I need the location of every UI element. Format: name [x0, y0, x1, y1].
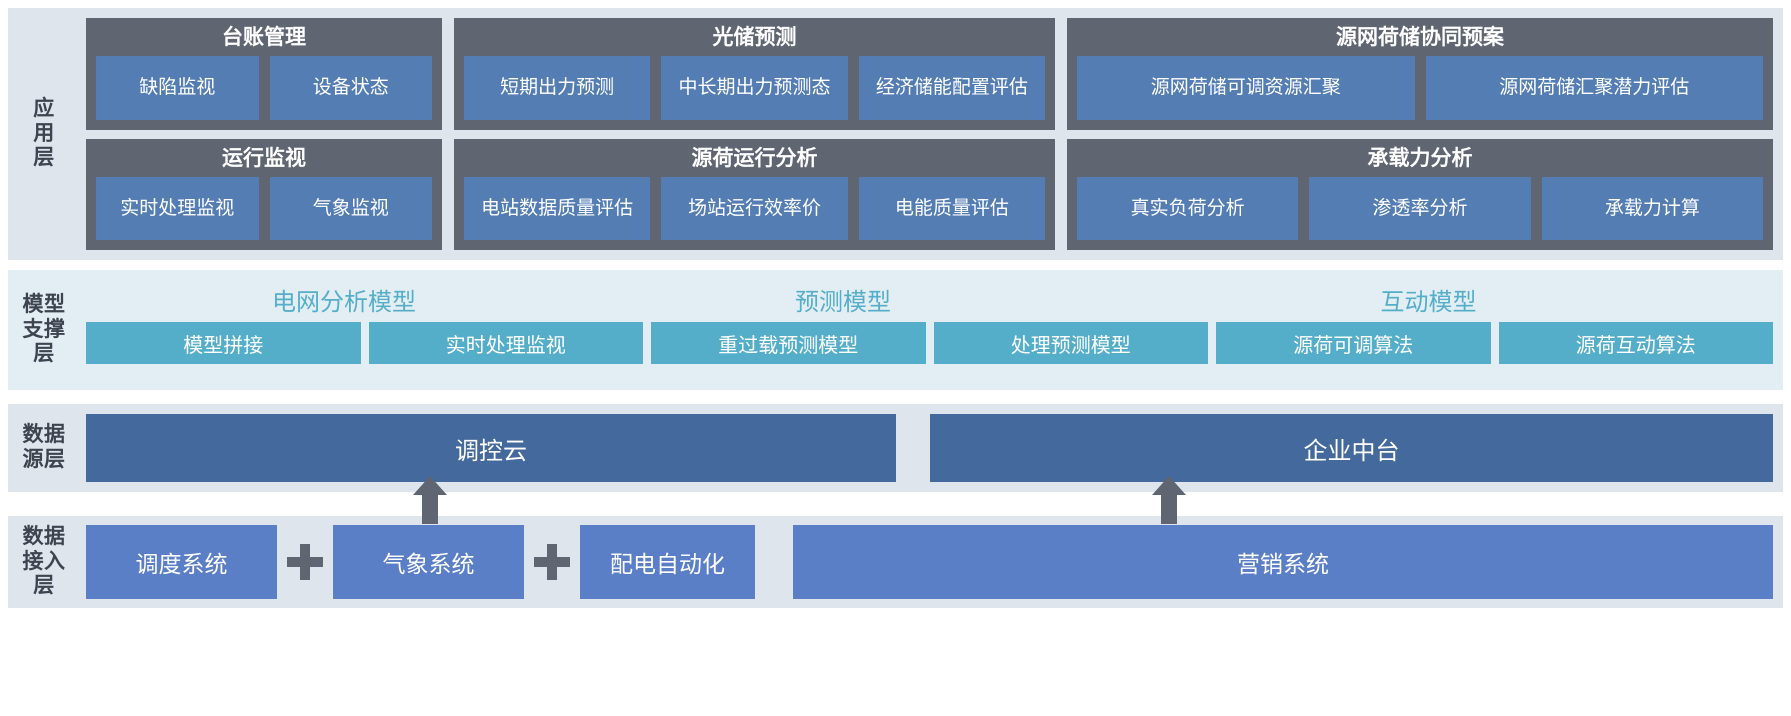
data-access-body: 调度系统 气象系统 配电自动化 营销系统 — [80, 516, 1783, 608]
group-items: 源网荷储可调资源汇聚 源网荷储汇聚潜力评估 — [1077, 56, 1763, 119]
group-items: 真实负荷分析 渗透率分析 承载力计算 — [1077, 177, 1763, 240]
app-item-zhenshi-fuhe-fenxi[interactable]: 真实负荷分析 — [1077, 177, 1298, 240]
layer-data-access: 数据 接入 层 调度系统 气象系统 配电自动化 营销系统 — [8, 516, 1783, 608]
layer-label-data-access-line1: 数据 — [23, 525, 66, 550]
layer-label-data-access: 数据 接入 层 — [8, 516, 80, 608]
group-title: 台账管理 — [222, 24, 306, 52]
layer-data-source: 数据 源层 调控云 企业中台 — [8, 404, 1783, 492]
access-item-yingxiao-xitong[interactable]: 营销系统 — [793, 525, 1773, 599]
group-title: 源网荷储协同预案 — [1336, 24, 1504, 52]
layer-label-data-source-line2: 源层 — [23, 448, 66, 473]
model-item-yuanhe-hudong-suanfa[interactable]: 源荷互动算法 — [1499, 322, 1774, 364]
app-item-duanqi-chuli-yuce[interactable]: 短期出力预测 — [464, 56, 650, 119]
layer-label-model-support-line2: 支撑 — [23, 318, 66, 343]
layer-label-data-source-line1: 数据 — [23, 423, 66, 448]
model-support-body: 电网分析模型 预测模型 互动模型 模型拼接 实时处理监视 重过载预测模型 处理预… — [80, 270, 1783, 390]
group-chengzaili-fenxi[interactable]: 承载力分析 真实负荷分析 渗透率分析 承载力计算 — [1067, 139, 1773, 251]
app-item-shishi-chuli-jianshi[interactable]: 实时处理监视 — [96, 177, 259, 240]
app-item-dianzhan-shuju-zhiliang-pinggu[interactable]: 电站数据质量评估 — [464, 177, 650, 240]
layer-label-model-support-line1: 模型 — [23, 293, 66, 318]
group-yuanwanghechu-xietong-yuan[interactable]: 源网荷储协同预案 源网荷储可调资源汇聚 源网荷储汇聚潜力评估 — [1067, 18, 1773, 130]
group-items: 电站数据质量评估 场站运行效率价 电能质量评估 — [464, 177, 1045, 240]
arrow-up-icon — [413, 476, 447, 524]
app-item-chengzaili-jisuan[interactable]: 承载力计算 — [1542, 177, 1763, 240]
application-body: 台账管理 缺陷监视 设备状态 光储预测 短期出力预测 中长期出力预测态 经济储能… — [80, 8, 1783, 260]
layer-label-model-support: 模型 支撑 层 — [8, 270, 80, 390]
layer-application: 应 用 层 台账管理 缺陷监视 设备状态 光储预测 短期出力预测 — [8, 8, 1783, 260]
app-item-quexian-jianshi[interactable]: 缺陷监视 — [96, 56, 259, 119]
group-taizhang-guanli[interactable]: 台账管理 缺陷监视 设备状态 — [86, 18, 442, 130]
group-title: 运行监视 — [222, 145, 306, 173]
group-title: 光储预测 — [713, 24, 797, 52]
model-item-zhongguozai-yuce-moxing[interactable]: 重过载预测模型 — [651, 322, 926, 364]
arrow-up-icon — [1152, 476, 1186, 524]
layer-label-application-line2: 用 — [33, 122, 55, 147]
application-row-1: 台账管理 缺陷监视 设备状态 光储预测 短期出力预测 中长期出力预测态 经济储能… — [86, 18, 1773, 130]
app-item-changzhan-yunxing-xiaolv[interactable]: 场站运行效率价 — [661, 177, 847, 240]
group-title: 源荷运行分析 — [692, 145, 818, 173]
app-item-ketiao-ziyuan-huiju[interactable]: 源网荷储可调资源汇聚 — [1077, 56, 1415, 119]
model-item-shishi-chuli-jianshi[interactable]: 实时处理监视 — [369, 322, 644, 364]
app-item-huiju-qianli-pinggu[interactable]: 源网荷储汇聚潜力评估 — [1426, 56, 1764, 119]
model-category-grid-analysis: 电网分析模型 — [86, 282, 602, 317]
group-yunxing-jianshi[interactable]: 运行监视 实时处理监视 气象监视 — [86, 139, 442, 251]
group-items: 实时处理监视 气象监视 — [96, 177, 432, 240]
layer-label-application: 应 用 层 — [8, 8, 80, 260]
layer-label-data-access-line3: 层 — [33, 574, 55, 599]
plus-icon — [524, 525, 580, 599]
app-item-zhongchangqi-chuli-yuce[interactable]: 中长期出力预测态 — [661, 56, 847, 119]
layer-label-application-line3: 层 — [33, 146, 55, 171]
model-item-row: 模型拼接 实时处理监视 重过载预测模型 处理预测模型 源荷可调算法 源荷互动算法 — [86, 322, 1773, 364]
group-items: 缺陷监视 设备状态 — [96, 56, 432, 119]
data-source-body: 调控云 企业中台 — [80, 404, 1783, 492]
model-item-moxing-pinjie[interactable]: 模型拼接 — [86, 322, 361, 364]
model-item-yuanhe-ketiao-suanfa[interactable]: 源荷可调算法 — [1216, 322, 1491, 364]
architecture-diagram: 应 用 层 台账管理 缺陷监视 设备状态 光储预测 短期出力预测 — [0, 0, 1791, 716]
group-yuanhe-yunxing-fenxi[interactable]: 源荷运行分析 电站数据质量评估 场站运行效率价 电能质量评估 — [454, 139, 1055, 251]
model-category-forecast: 预测模型 — [602, 282, 1084, 317]
source-item-diaokongyun[interactable]: 调控云 — [86, 414, 896, 482]
access-item-diaodu-xitong[interactable]: 调度系统 — [86, 525, 277, 599]
app-item-jingji-chuneng-peizhi-pinggu[interactable]: 经济储能配置评估 — [859, 56, 1045, 119]
application-row-2: 运行监视 实时处理监视 气象监视 源荷运行分析 电站数据质量评估 场站运行效率价… — [86, 139, 1773, 251]
group-title: 承载力分析 — [1368, 145, 1473, 173]
app-item-qixiang-jianshi[interactable]: 气象监视 — [270, 177, 433, 240]
app-item-shebei-zhuangtai[interactable]: 设备状态 — [270, 56, 433, 119]
model-category-interaction: 互动模型 — [1084, 282, 1773, 317]
group-guangchu-yuce[interactable]: 光储预测 短期出力预测 中长期出力预测态 经济储能配置评估 — [454, 18, 1055, 130]
access-item-peidian-zidonghua[interactable]: 配电自动化 — [580, 525, 755, 599]
layer-model-support: 模型 支撑 层 电网分析模型 预测模型 互动模型 模型拼接 实时处理监视 重过载… — [8, 270, 1783, 390]
plus-icon — [277, 525, 333, 599]
model-category-row: 电网分析模型 预测模型 互动模型 — [86, 276, 1773, 322]
layer-label-data-source: 数据 源层 — [8, 404, 80, 492]
spacer — [755, 525, 793, 599]
group-items: 短期出力预测 中长期出力预测态 经济储能配置评估 — [464, 56, 1045, 119]
layer-label-data-access-line2: 接入 — [23, 550, 66, 575]
app-item-diangneng-zhiliang-pinggu[interactable]: 电能质量评估 — [859, 177, 1045, 240]
source-item-qiyezhongtai[interactable]: 企业中台 — [930, 414, 1773, 482]
app-item-shentoulv-fenxi[interactable]: 渗透率分析 — [1309, 177, 1530, 240]
layer-label-application-line1: 应 — [33, 97, 55, 122]
access-item-qixiang-xitong[interactable]: 气象系统 — [333, 525, 524, 599]
model-item-chuli-yuce-moxing[interactable]: 处理预测模型 — [934, 322, 1209, 364]
layer-label-model-support-line3: 层 — [33, 342, 55, 367]
